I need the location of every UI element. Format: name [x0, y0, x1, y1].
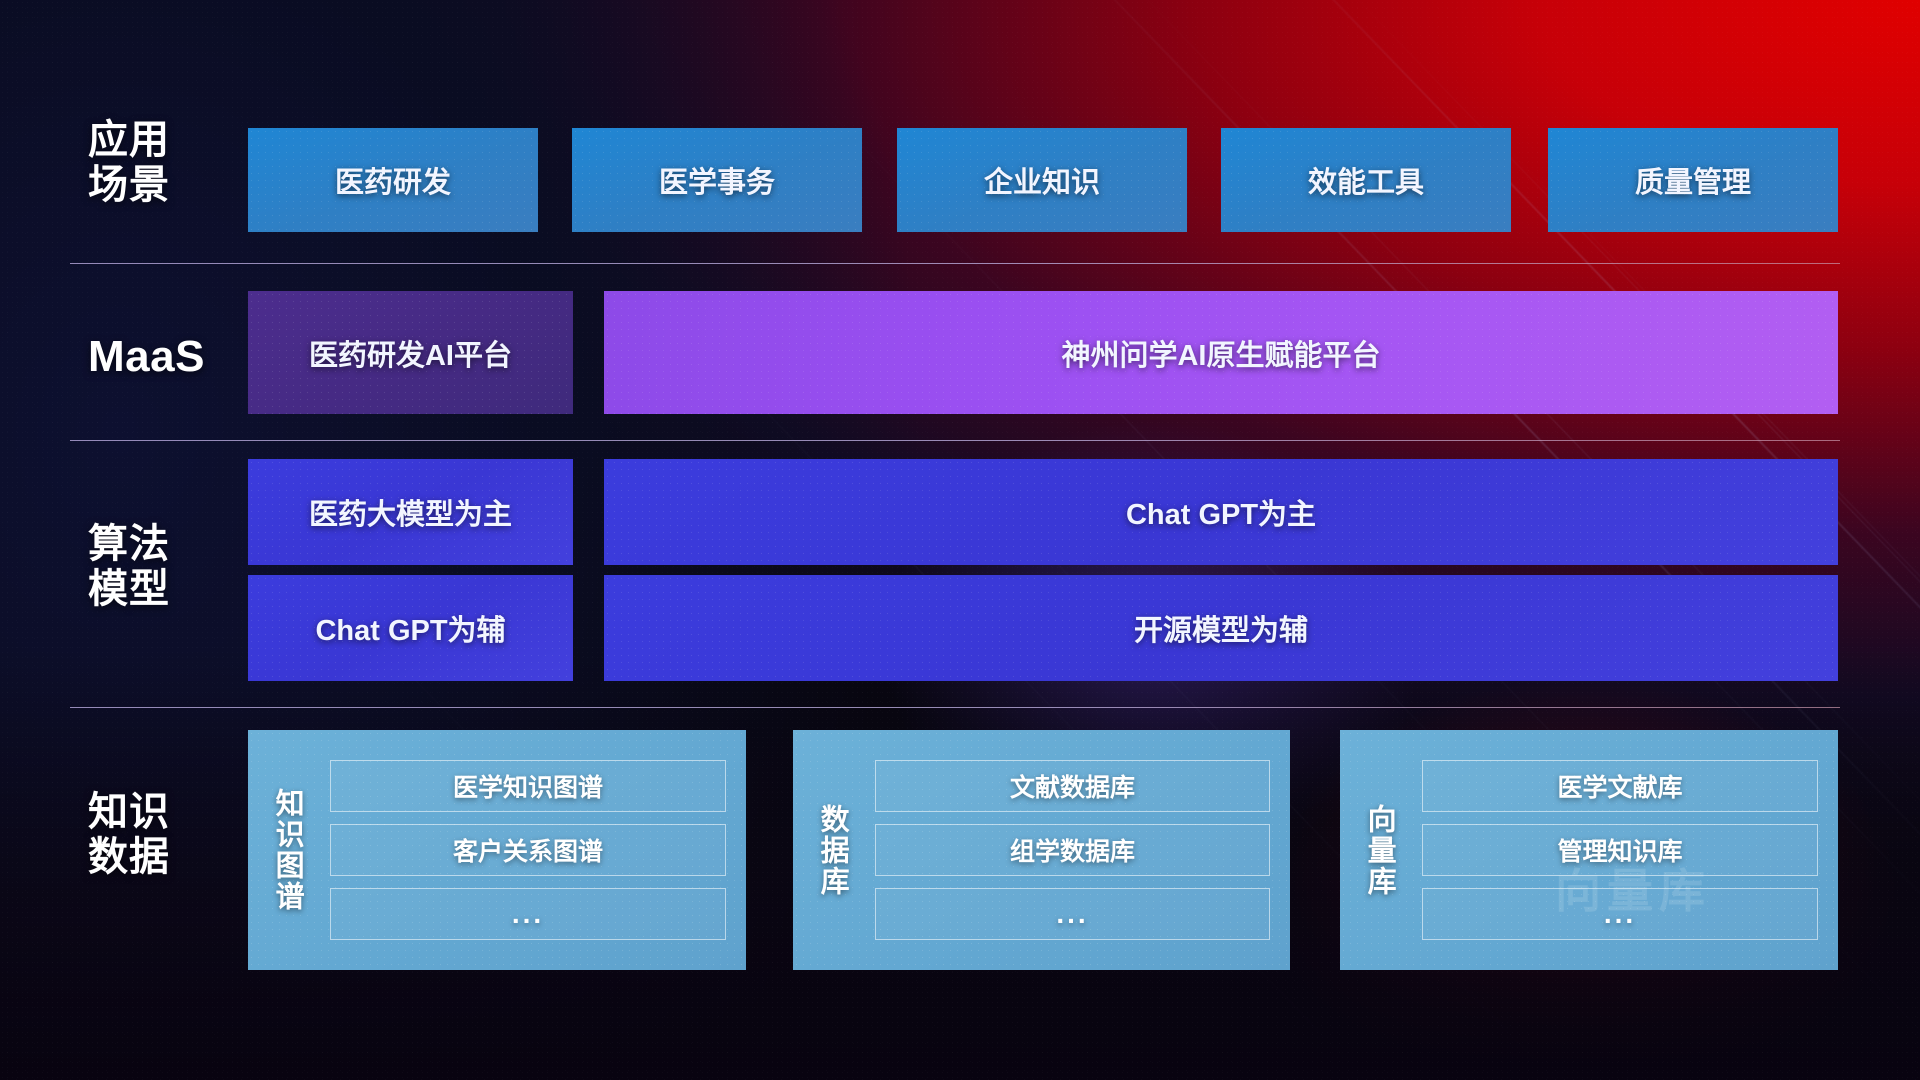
maas-card-pharma-platform[interactable]: 医药研发AI平台 [248, 291, 573, 414]
knowledge-group-3-items: 医学文献库 管理知识库 ... [1418, 730, 1838, 970]
row-label-data: 数据 [88, 835, 238, 880]
row-label-maas-text: MaaS [88, 332, 238, 381]
knowledge-group-1-items: 医学知识图谱 客户关系图谱 ... [326, 730, 746, 970]
knowledge-group-vector-store: 向量库 医学文献库 管理知识库 ... [1340, 730, 1838, 970]
scenario-card-2-label: 医学事务 [659, 159, 775, 201]
architecture-diagram: 应用 场景 医药研发 医学事务 企业知识 效能工具 质量管理 MaaS 医药研发… [0, 0, 1920, 1080]
divider-2 [70, 440, 1840, 441]
knowledge-item-more-2[interactable]: ... [875, 888, 1270, 940]
scenario-card-2[interactable]: 医学事务 [572, 128, 862, 232]
algo-card-chatgpt-primary-label: Chat GPT为主 [1126, 491, 1316, 533]
knowledge-group-2-items: 文献数据库 组学数据库 ... [871, 730, 1290, 970]
divider-1 [70, 263, 1840, 264]
knowledge-item-medical-literature[interactable]: 医学文献库 [1422, 760, 1818, 812]
row-label-application-scenario: 应用 场景 [88, 118, 238, 208]
knowledge-item-medical-graph[interactable]: 医学知识图谱 [330, 760, 726, 812]
scenario-card-4[interactable]: 效能工具 [1221, 128, 1511, 232]
row-label-line2: 场景 [88, 163, 238, 208]
knowledge-group-knowledge-graph: 知识图谱 医学知识图谱 客户关系图谱 ... [248, 730, 746, 970]
algo-card-chatgpt-secondary-label: Chat GPT为辅 [315, 607, 505, 649]
row-label-algorithm-model: 算法 模型 [88, 522, 238, 612]
knowledge-group-1-title: 知识图谱 [248, 730, 326, 970]
knowledge-item-literature-db[interactable]: 文献数据库 [875, 760, 1270, 812]
row-label-line1: 应用 [88, 118, 238, 163]
algo-card-opensource-secondary[interactable]: 开源模型为辅 [604, 575, 1838, 681]
algo-card-opensource-secondary-label: 开源模型为辅 [1134, 607, 1308, 649]
scenario-card-3-label: 企业知识 [984, 159, 1100, 201]
row-label-knowledge: 知识 [88, 790, 238, 835]
row-label-algorithm: 算法 [88, 522, 238, 567]
maas-card-pharma-platform-label: 医药研发AI平台 [309, 332, 512, 374]
scenario-card-5-label: 质量管理 [1635, 159, 1751, 201]
knowledge-group-3-title: 向量库 [1340, 730, 1418, 970]
scenario-card-4-label: 效能工具 [1308, 159, 1424, 201]
scenario-card-1[interactable]: 医药研发 [248, 128, 538, 232]
knowledge-item-omics-db[interactable]: 组学数据库 [875, 824, 1270, 876]
algo-card-chatgpt-primary[interactable]: Chat GPT为主 [604, 459, 1838, 565]
algo-card-pharma-llm-primary[interactable]: 医药大模型为主 [248, 459, 573, 565]
row-label-maas: MaaS [88, 332, 238, 381]
algo-card-chatgpt-secondary[interactable]: Chat GPT为辅 [248, 575, 573, 681]
scenario-card-3[interactable]: 企业知识 [897, 128, 1187, 232]
knowledge-group-database: 数据库 文献数据库 组学数据库 ... [793, 730, 1290, 970]
row-label-knowledge-data: 知识 数据 [88, 790, 238, 880]
algo-card-pharma-llm-primary-label: 医药大模型为主 [309, 491, 512, 533]
scenario-card-5[interactable]: 质量管理 [1548, 128, 1838, 232]
knowledge-item-more-1[interactable]: ... [330, 888, 726, 940]
maas-card-shenzhou-platform-label: 神州问学AI原生赋能平台 [1061, 332, 1380, 374]
knowledge-item-more-3[interactable]: ... [1422, 888, 1818, 940]
divider-3 [70, 707, 1840, 708]
knowledge-item-management-kb[interactable]: 管理知识库 [1422, 824, 1818, 876]
knowledge-item-customer-graph[interactable]: 客户关系图谱 [330, 824, 726, 876]
scenario-card-1-label: 医药研发 [335, 159, 451, 201]
row-label-model: 模型 [88, 567, 238, 612]
knowledge-group-2-title: 数据库 [793, 730, 871, 970]
maas-card-shenzhou-platform[interactable]: 神州问学AI原生赋能平台 [604, 291, 1838, 414]
